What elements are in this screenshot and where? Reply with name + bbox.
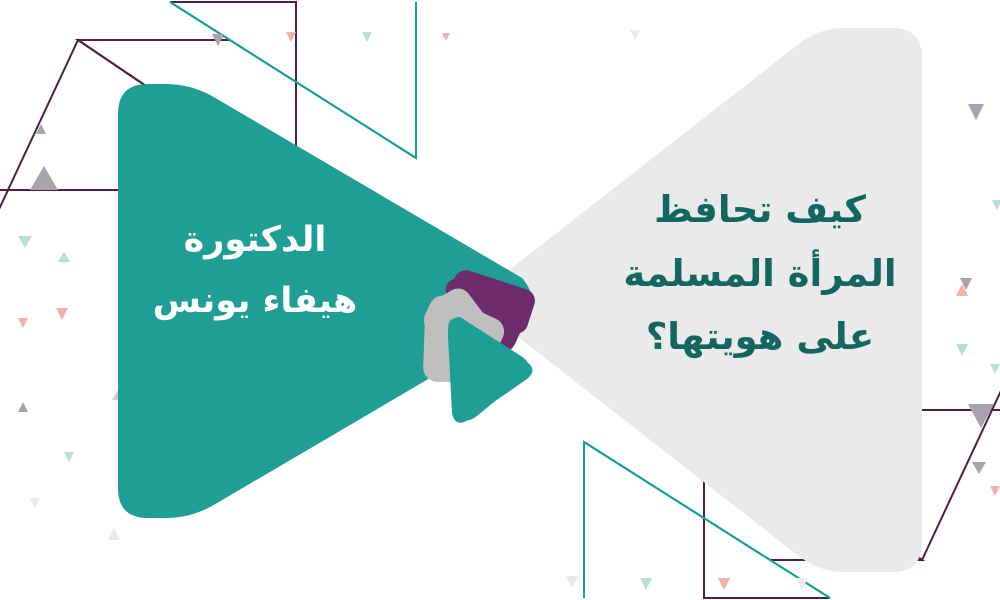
lecture-title-line-1: كيف تحافظ [580, 178, 940, 242]
lecture-title-line-3: على هويتها؟ [580, 305, 940, 369]
lecture-title-line-2: المرأة المسلمة [580, 242, 940, 306]
speaker-name: الدكتورة هيفاء يونس [130, 210, 380, 333]
speaker-name-line-2: هيفاء يونس [130, 271, 380, 332]
speaker-name-line-1: الدكتورة [130, 210, 380, 271]
lecture-title: كيف تحافظ المرأة المسلمة على هويتها؟ [580, 178, 940, 369]
title-card: الدكتورة هيفاء يونس كيف تحافظ المرأة الم… [0, 0, 1000, 600]
